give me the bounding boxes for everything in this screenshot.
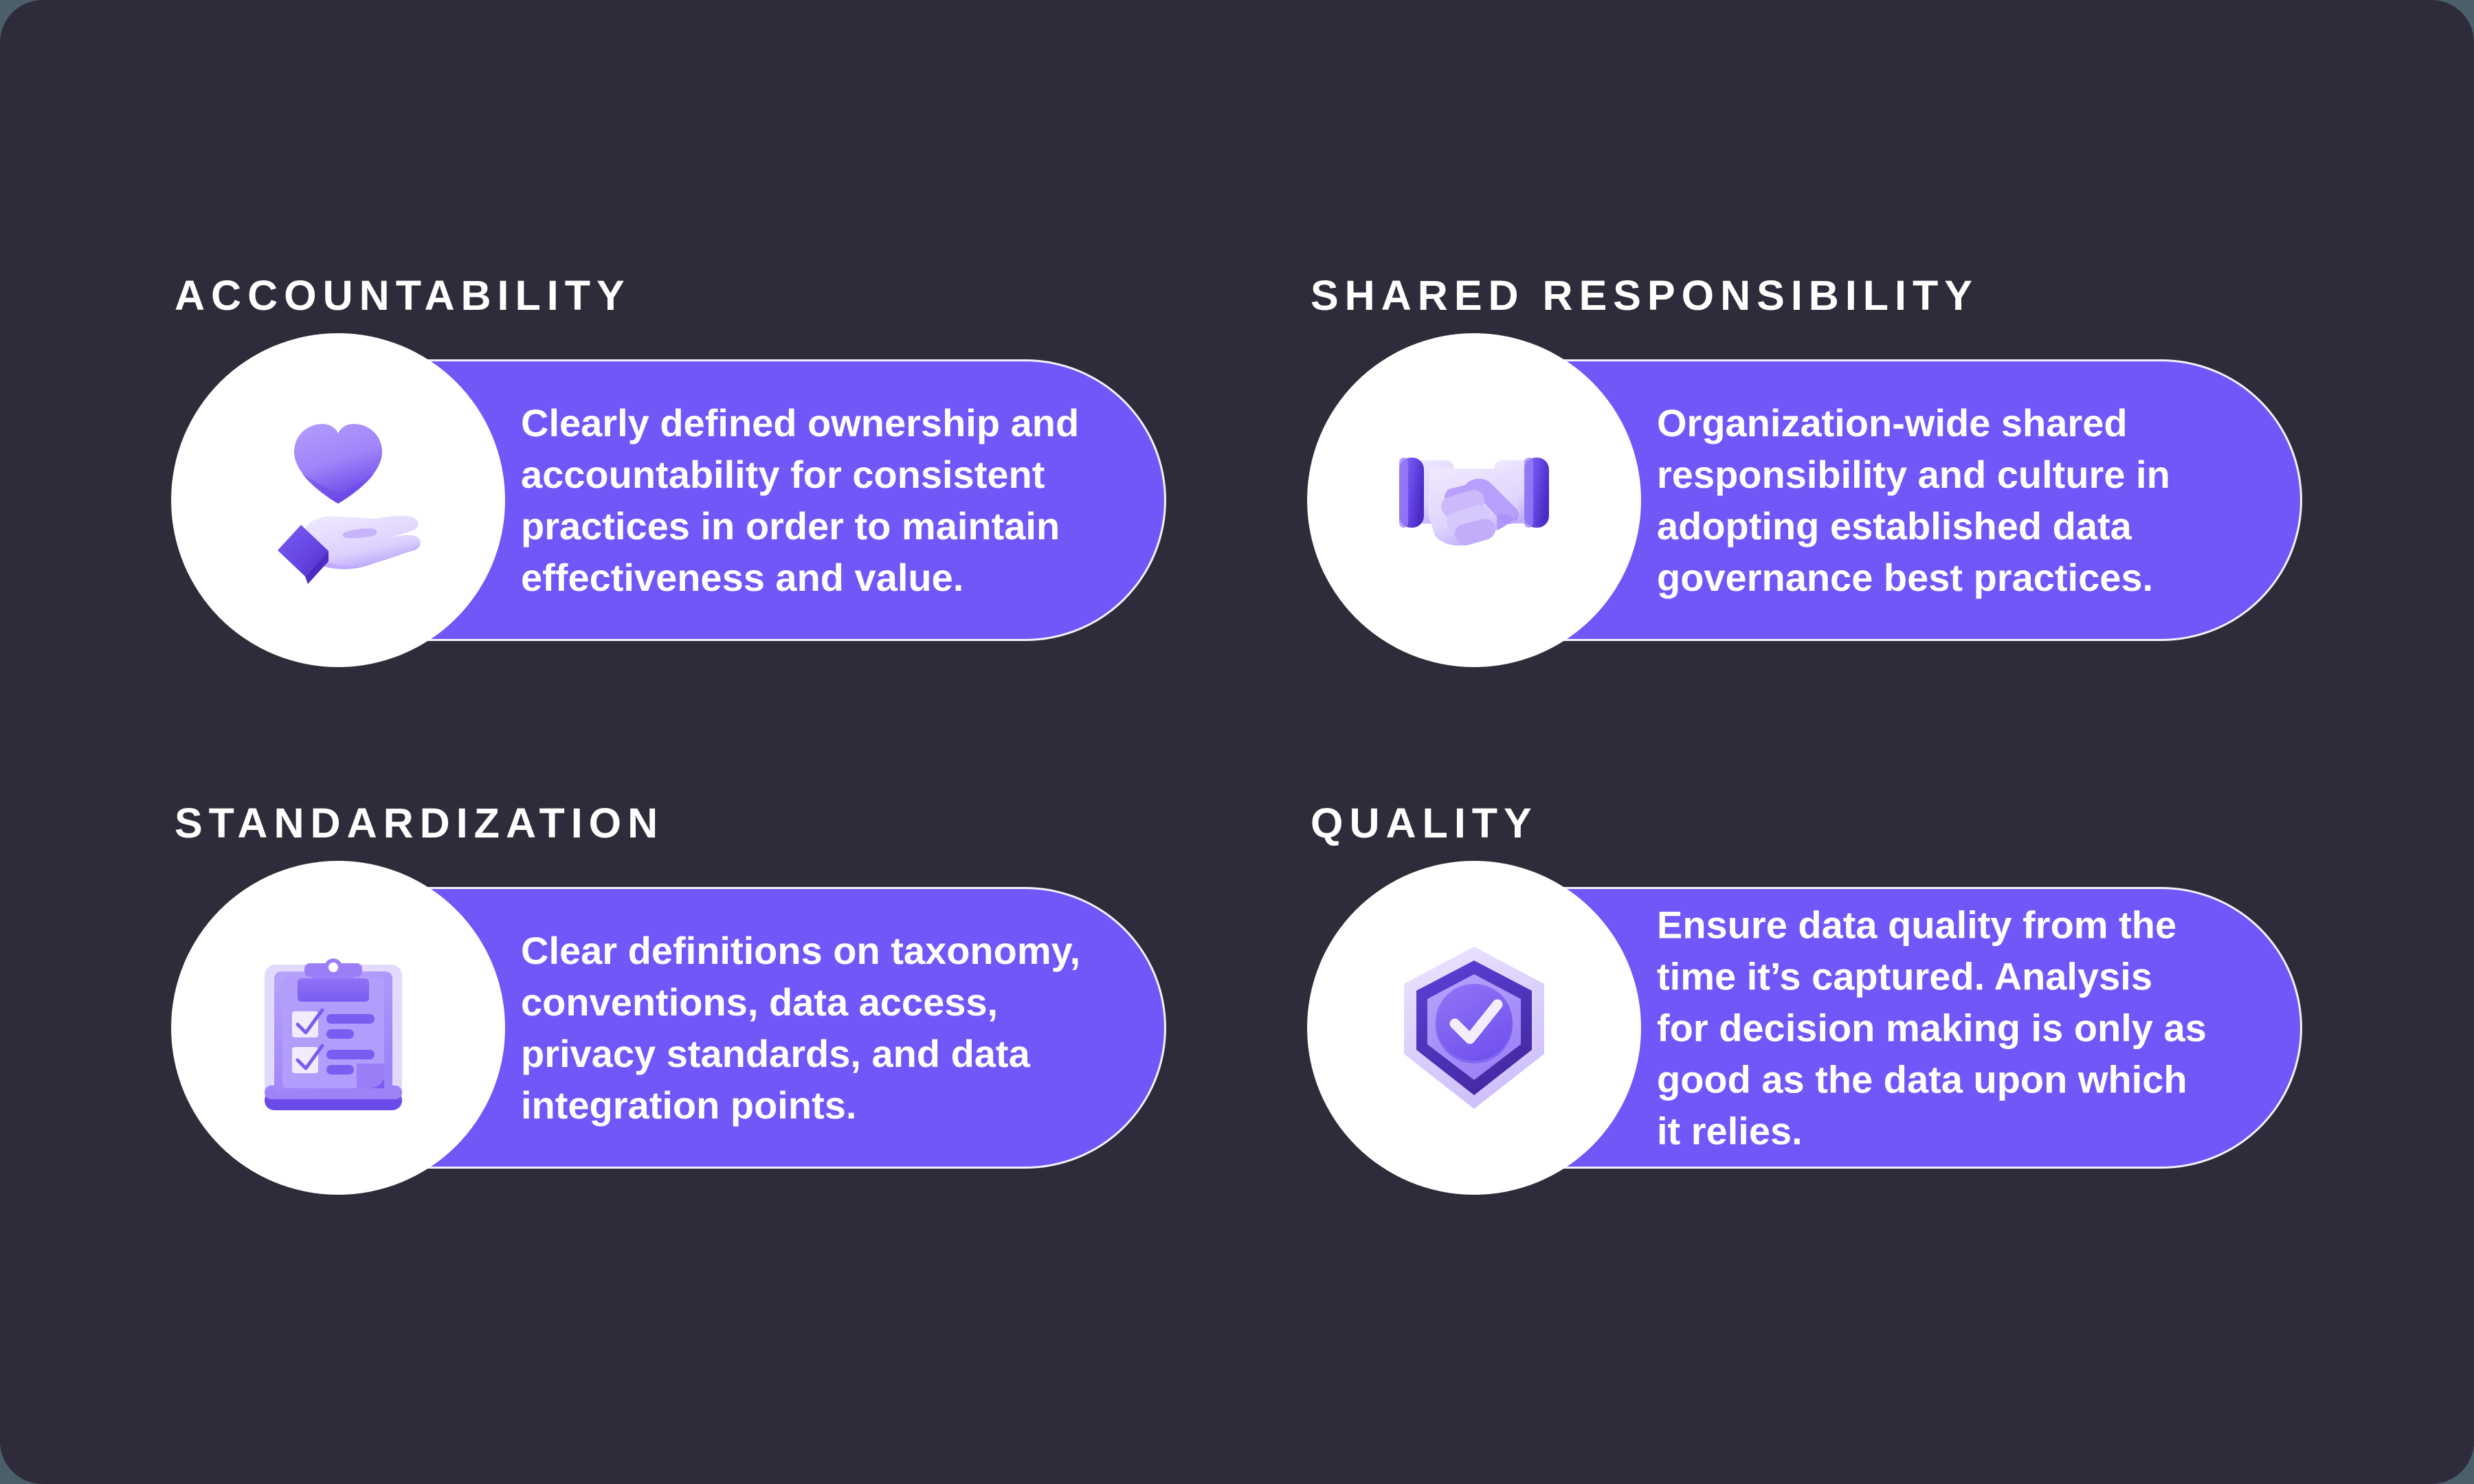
card-pill-quality[interactable]: Ensure data quality from the time it’s c… [1308,887,2302,1169]
card-pill-shared-responsibility[interactable]: Organization-wide shared responsibility … [1308,359,2302,641]
icon-disc [1307,333,1641,667]
card-body-shared-responsibility: Organization-wide shared responsibility … [1657,397,2186,603]
card-heading-shared-responsibility: SHARED RESPONSIBILITY [1308,271,2302,319]
icon-disc [1307,861,1641,1195]
card-heading-quality: QUALITY [1308,799,2302,847]
card-pill-accountability[interactable]: Clearly defined ownership and accountabi… [172,359,1166,641]
handshake-icon [1381,431,1567,569]
principles-grid: ACCOUNTABILITY [0,0,2474,1484]
card-body-quality: Ensure data quality from the time it’s c… [1657,899,2214,1157]
principle-card-shared-responsibility: SHARED RESPONSIBILITY [1308,271,2302,641]
card-body-accountability: Clearly defined ownership and accountabi… [521,397,1091,603]
principle-card-accountability: ACCOUNTABILITY [172,271,1166,641]
heart-in-hand-icon [242,414,434,586]
card-heading-standardization: STANDARDIZATION [172,799,1166,847]
icon-disc [171,861,505,1195]
infographic-canvas: ACCOUNTABILITY [0,0,2474,1484]
card-body-standardization: Clear definitions on taxonomy, conventio… [521,925,1091,1131]
icon-disc [171,333,505,667]
principle-card-quality: QUALITY [1308,799,2302,1169]
card-pill-standardization[interactable]: Clear definitions on taxonomy, conventio… [172,887,1166,1169]
clipboard-checklist-icon [259,938,417,1117]
principle-card-standardization: STANDARDIZATION [172,799,1166,1169]
card-heading-accountability: ACCOUNTABILITY [172,271,1166,319]
shield-check-icon [1392,941,1557,1114]
